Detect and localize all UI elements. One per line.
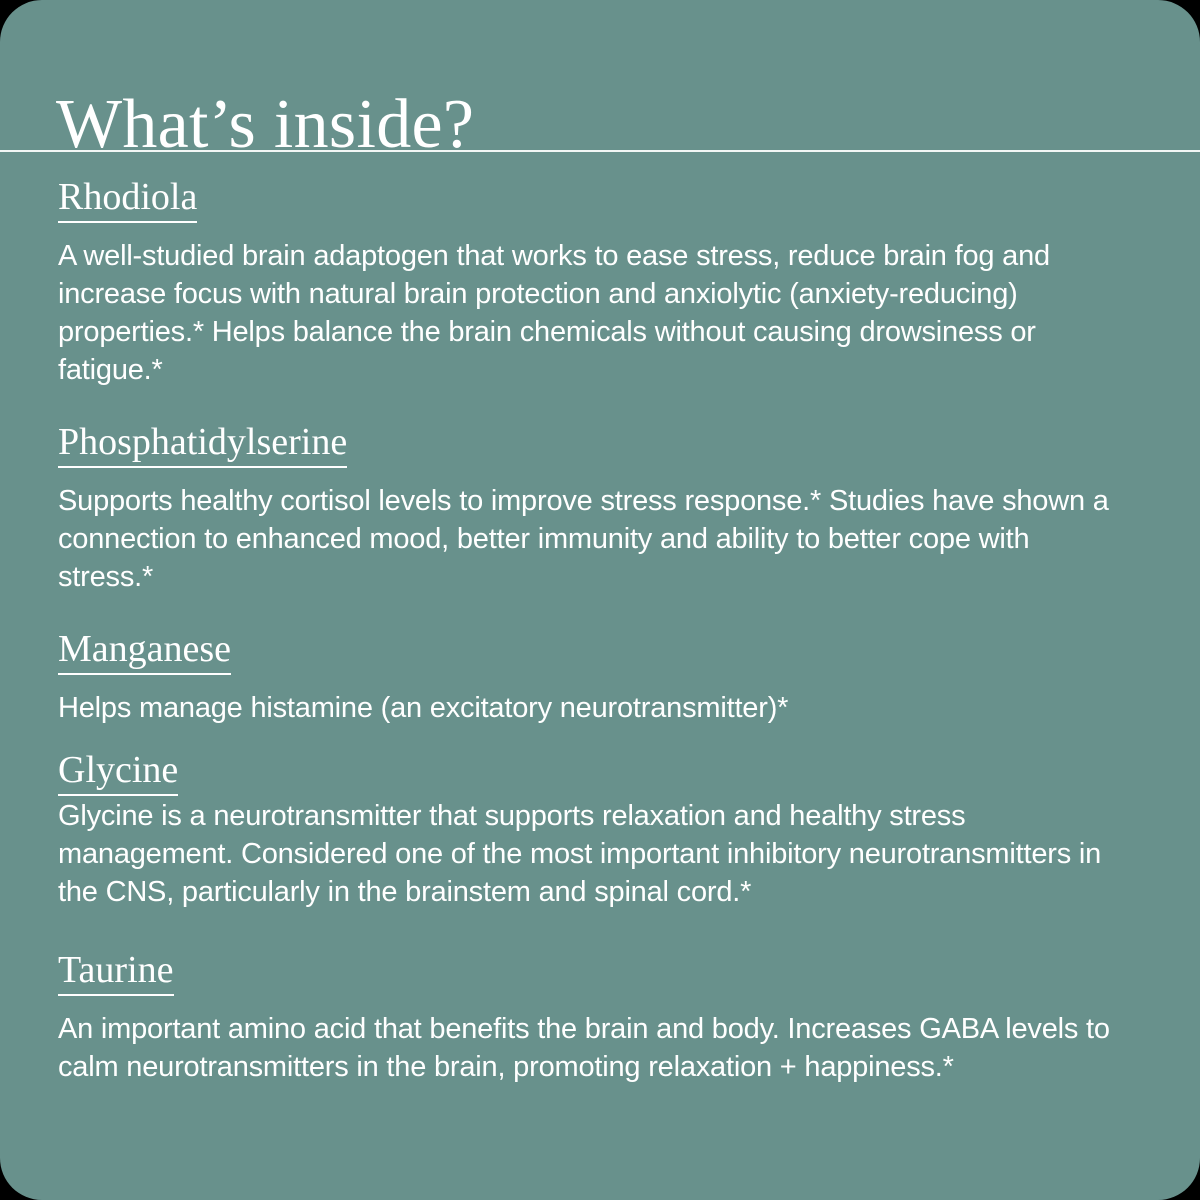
card-header: What’s inside?	[0, 0, 1200, 150]
ingredient-heading-taurine: Taurine	[58, 947, 174, 996]
ingredient-heading-glycine: Glycine	[58, 747, 178, 796]
ingredient-section-taurine: Taurine An important amino acid that ben…	[58, 947, 1142, 1086]
ingredient-sections: Rhodiola A well-studied brain adaptogen …	[0, 152, 1200, 1116]
ingredient-heading-rhodiola: Rhodiola	[58, 174, 197, 223]
ingredient-heading-phosphatidylserine: Phosphatidylserine	[58, 419, 347, 468]
ingredient-section-phosphatidylserine: Phosphatidylserine Supports healthy cort…	[58, 419, 1142, 596]
ingredient-body-rhodiola: A well-studied brain adaptogen that work…	[58, 237, 1114, 389]
ingredient-body-manganese: Helps manage histamine (an excitatory ne…	[58, 689, 1114, 727]
ingredient-section-glycine: Glycine Glycine is a neurotransmitter th…	[58, 747, 1142, 911]
whats-inside-card: What’s inside? Rhodiola A well-studied b…	[0, 0, 1200, 1200]
ingredient-body-phosphatidylserine: Supports healthy cortisol levels to impr…	[58, 482, 1114, 596]
ingredient-body-glycine: Glycine is a neurotransmitter that suppo…	[58, 797, 1114, 911]
ingredient-heading-manganese: Manganese	[58, 626, 231, 675]
ingredient-section-manganese: Manganese Helps manage histamine (an exc…	[58, 626, 1142, 727]
ingredient-body-taurine: An important amino acid that benefits th…	[58, 1010, 1114, 1086]
ingredient-section-rhodiola: Rhodiola A well-studied brain adaptogen …	[58, 174, 1142, 389]
